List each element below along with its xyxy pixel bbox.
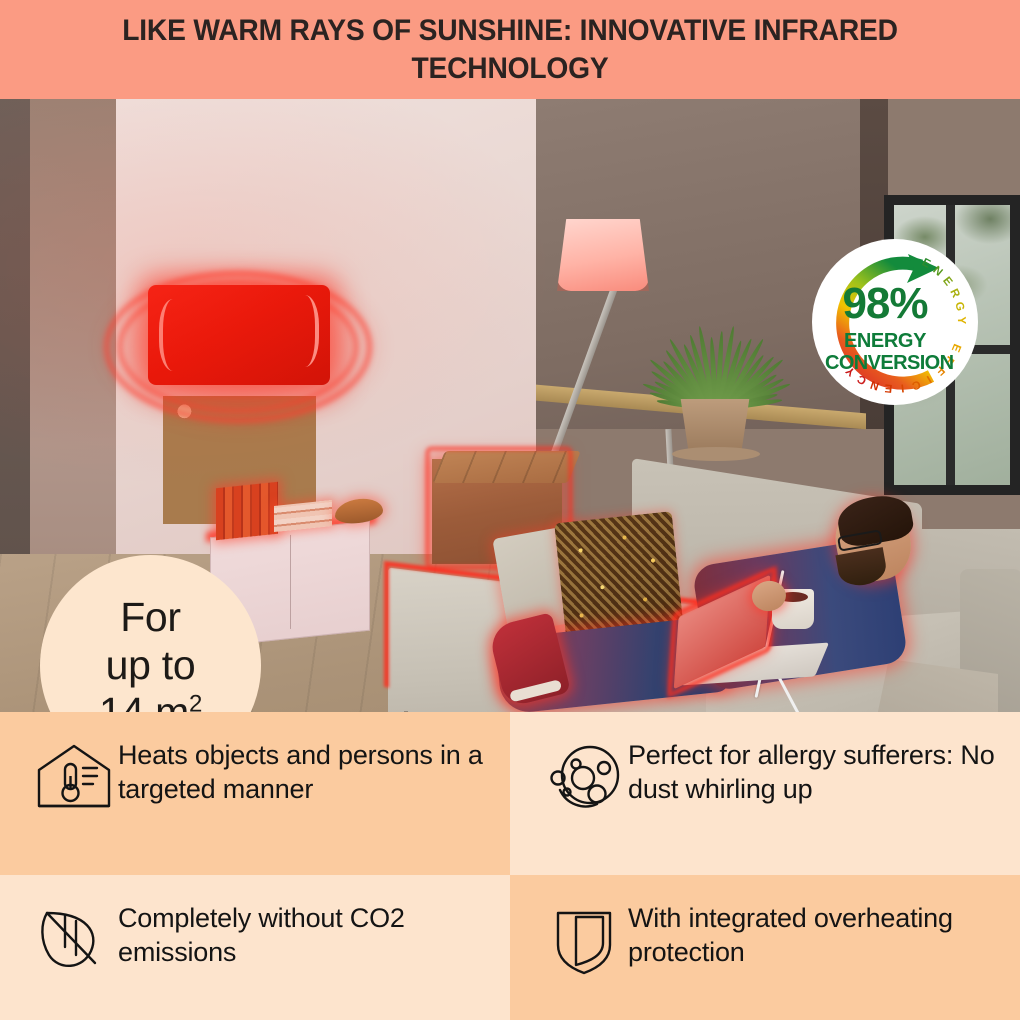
header-banner: LIKE WARM RAYS OF SUNSHINE: INNOVATIVE I… xyxy=(0,0,1020,99)
coverage-exponent: 2 xyxy=(189,691,202,712)
books-upright xyxy=(216,482,278,541)
feature-text: Heats objects and persons in a targeted … xyxy=(118,736,494,806)
feature-text: Completely without CO2 emissions xyxy=(118,899,494,969)
feature-card-allergy: Perfect for allergy sufferers: No dust w… xyxy=(510,712,1020,875)
palm-leaves xyxy=(644,277,794,407)
shield-icon xyxy=(540,899,628,977)
feature-cards: Heats objects and persons in a targeted … xyxy=(0,712,1020,1020)
plant-saucer xyxy=(672,447,760,461)
badge-arc-letter: E xyxy=(884,381,893,394)
feature-text: Perfect for allergy sufferers: No dust w… xyxy=(628,736,1004,806)
coverage-line-2: up to xyxy=(99,642,202,690)
hero-photo: ENERGYEFFICIENCY 98% ENERGY CONVERSION F… xyxy=(0,99,1020,712)
badge-line1: ENERGY xyxy=(825,330,945,352)
coverage-number: 14 m xyxy=(99,689,189,712)
feature-card-overheating: With integrated overheating protection xyxy=(510,875,1020,1020)
coverage-value: 14 m2 xyxy=(99,689,202,712)
leaf-icon xyxy=(30,899,118,977)
infographic-page: LIKE WARM RAYS OF SUNSHINE: INNOVATIVE I… xyxy=(0,0,1020,1020)
dust-particles-icon xyxy=(540,736,628,814)
infrared-heater-panel xyxy=(148,285,330,385)
badge-arc-letter: Y xyxy=(955,316,967,324)
house-thermometer-icon xyxy=(30,736,118,814)
coverage-line-1: For xyxy=(99,594,202,642)
energy-efficiency-badge: ENERGYEFFICIENCY 98% ENERGY CONVERSION xyxy=(811,238,979,406)
floor-lamp-shade xyxy=(557,219,649,291)
feature-card-co2: Completely without CO2 emissions xyxy=(0,875,510,1020)
sideboard-door-split xyxy=(290,535,291,629)
feature-card-heats-objects: Heats objects and persons in a targeted … xyxy=(0,712,510,875)
badge-percent: 98% xyxy=(825,282,945,326)
plant-pot xyxy=(676,399,754,451)
badge-line2: CONVERSION xyxy=(825,352,945,374)
feature-text: With integrated overheating protection xyxy=(628,899,1004,969)
page-title: LIKE WARM RAYS OF SUNSHINE: INNOVATIVE I… xyxy=(70,12,950,86)
